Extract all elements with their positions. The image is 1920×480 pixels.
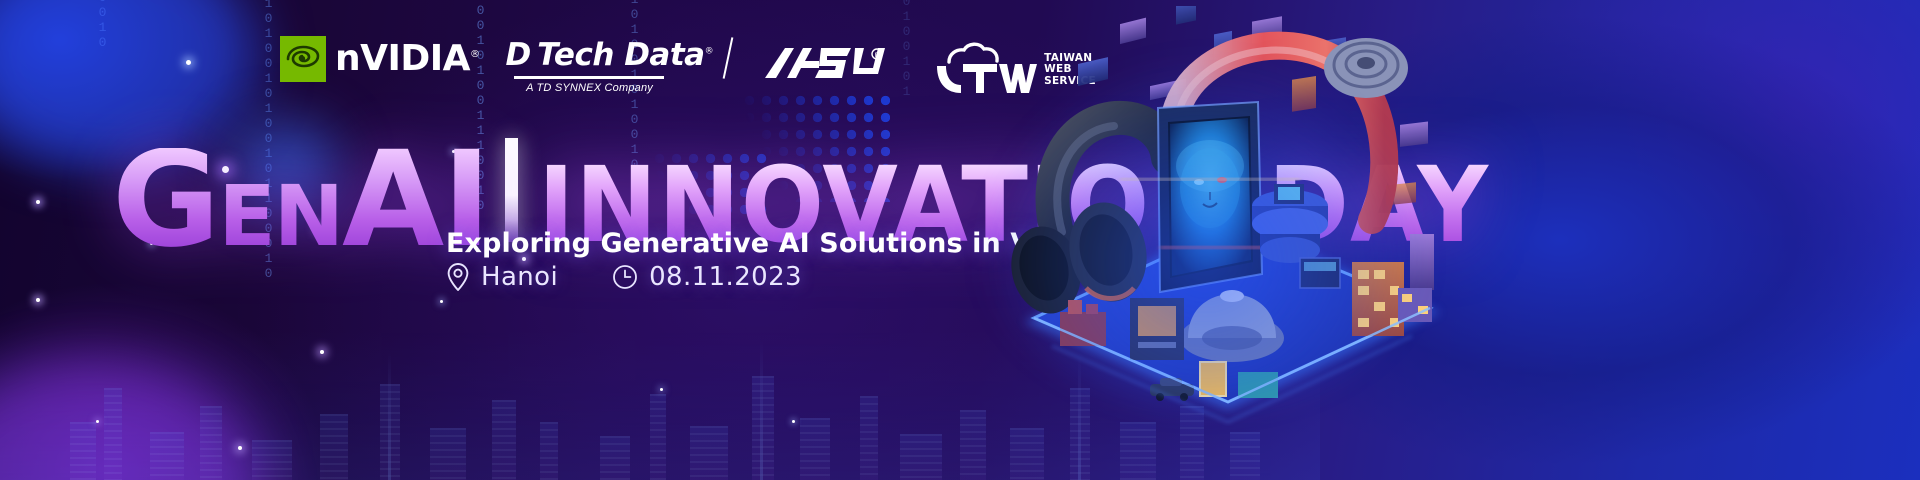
nvidia-word-part2: VIDIA xyxy=(360,38,470,79)
event-location: Hanoi xyxy=(446,262,558,292)
event-date: 08.11.2023 xyxy=(612,262,802,292)
techdata-subtitle: A TD SYNNEX Company xyxy=(506,82,674,94)
sponsor-logo-row: nVIDIA® D Tech Data® A TD SYNNEX Company xyxy=(280,36,1096,96)
nvidia-word-part1: n xyxy=(335,38,360,79)
sponsor-logo-asus[interactable]: R xyxy=(763,36,885,84)
sponsor-logo-techdata[interactable]: D Tech Data® A TD SYNNEX Company xyxy=(506,36,714,94)
event-meta-row: Hanoi 08.11.2023 xyxy=(446,262,802,292)
techdata-monogram: D xyxy=(506,40,532,71)
nvidia-trademark: ® xyxy=(470,49,480,60)
brand-genai-en: EN xyxy=(218,167,342,265)
nvidia-wordmark: nVIDIA® xyxy=(335,41,480,77)
cloud-icon xyxy=(949,44,997,62)
techdata-name: Tech Data® xyxy=(537,40,713,71)
clock-icon xyxy=(612,264,638,290)
brand-genai: GENAI xyxy=(112,148,489,254)
asus-wordmark: R xyxy=(763,44,885,84)
map-pin-icon xyxy=(446,262,470,292)
brand-genai-g: G xyxy=(112,123,218,277)
isometric-ai-tech-city-illustration xyxy=(1000,6,1460,426)
nvidia-eye-icon xyxy=(280,36,326,82)
event-date-label: 08.11.2023 xyxy=(649,262,802,292)
techdata-rule xyxy=(514,76,664,79)
svg-text:R: R xyxy=(875,51,880,59)
techdata-wordmark: D Tech Data® xyxy=(506,40,714,71)
event-banner: 0010 1010010100101100010 100101001110010… xyxy=(0,0,1920,480)
techdata-slash-accent xyxy=(723,37,734,78)
event-location-label: Hanoi xyxy=(481,262,558,292)
headline-divider xyxy=(505,138,518,242)
sponsor-logo-nvidia[interactable]: nVIDIA® xyxy=(280,36,480,82)
techdata-trademark: ® xyxy=(705,47,714,57)
